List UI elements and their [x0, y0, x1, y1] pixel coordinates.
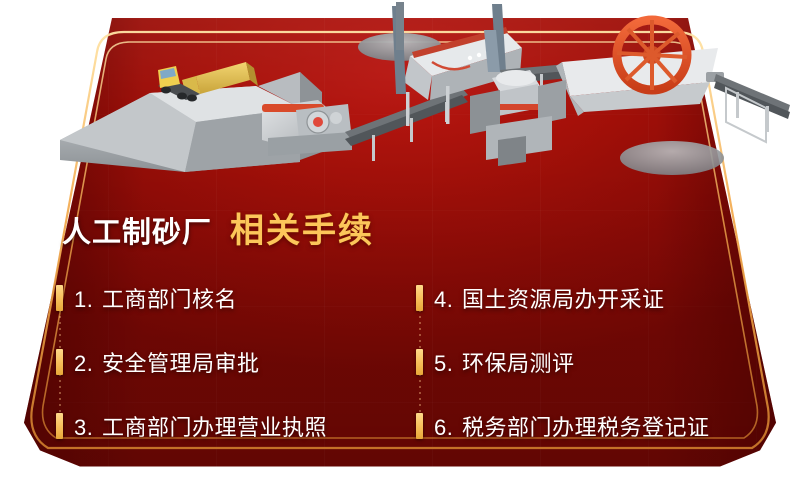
list-item-label: 工商部门办理营业执照 [102, 415, 327, 440]
belt-conveyor-3 [714, 74, 790, 142]
list-item[interactable]: 2. 安全管理局审批 [56, 330, 416, 394]
list-item-label: 安全管理局审批 [102, 351, 260, 376]
jaw-crusher [262, 100, 352, 156]
list-item-number: 1. [74, 287, 93, 312]
list-item[interactable]: 5. 环保局测评 [416, 330, 796, 394]
list-item[interactable]: 1. 工商部门核名 [56, 266, 416, 330]
sand-washer [556, 20, 724, 116]
list-item-label: 税务部门办理税务登记证 [462, 415, 710, 440]
list-item[interactable]: 6. 税务部门办理税务登记证 [416, 394, 796, 458]
title-primary: 人工制砂厂 [62, 209, 212, 251]
list-item-number: 5. [434, 351, 453, 376]
bullet-bar-icon [416, 349, 423, 375]
bullet-bar-icon [56, 413, 63, 439]
banner-title: 人工制砂厂 相关手续 [62, 203, 374, 252]
stockpile-right [620, 141, 724, 175]
list-item-text: 5. 环保局测评 [434, 346, 575, 378]
list-item-text: 4. 国土资源局办开采证 [434, 282, 665, 314]
vsi-sand-maker [470, 70, 566, 166]
list-item-text: 6. 税务部门办理税务登记证 [434, 410, 710, 442]
list-item-number: 6. [434, 415, 453, 440]
washer-wheel [617, 20, 687, 90]
list-item-number: 4. [434, 287, 453, 312]
list-item-number: 2. [74, 351, 93, 376]
bullet-bar-icon [416, 413, 423, 439]
bullet-bar-icon [56, 349, 63, 375]
list-item-text: 3. 工商部门办理营业执照 [74, 410, 327, 442]
title-accent: 相关手续 [230, 203, 374, 252]
bullet-bar-icon [416, 285, 423, 311]
list-item-number: 3. [74, 415, 93, 440]
list-item[interactable]: 3. 工商部门办理营业执照 [56, 394, 416, 458]
list-item-label: 环保局测评 [462, 351, 575, 376]
list-item-text: 1. 工商部门核名 [74, 282, 237, 314]
chimney [396, 2, 404, 50]
production-line-illustration [0, 0, 800, 200]
banner-stage: 人工制砂厂 相关手续 1. 工商部门核名 4. 国土资源局办开采证 2. 安全管… [0, 0, 800, 500]
list-item-label: 工商部门核名 [102, 287, 237, 312]
list-item[interactable]: 4. 国土资源局办开采证 [416, 266, 796, 330]
bullet-bar-icon [56, 285, 63, 311]
list-item-text: 2. 安全管理局审批 [74, 346, 260, 378]
list-item-label: 国土资源局办开采证 [462, 287, 665, 312]
procedure-list: 1. 工商部门核名 4. 国土资源局办开采证 2. 安全管理局审批 5. 环保局… [0, 266, 800, 456]
